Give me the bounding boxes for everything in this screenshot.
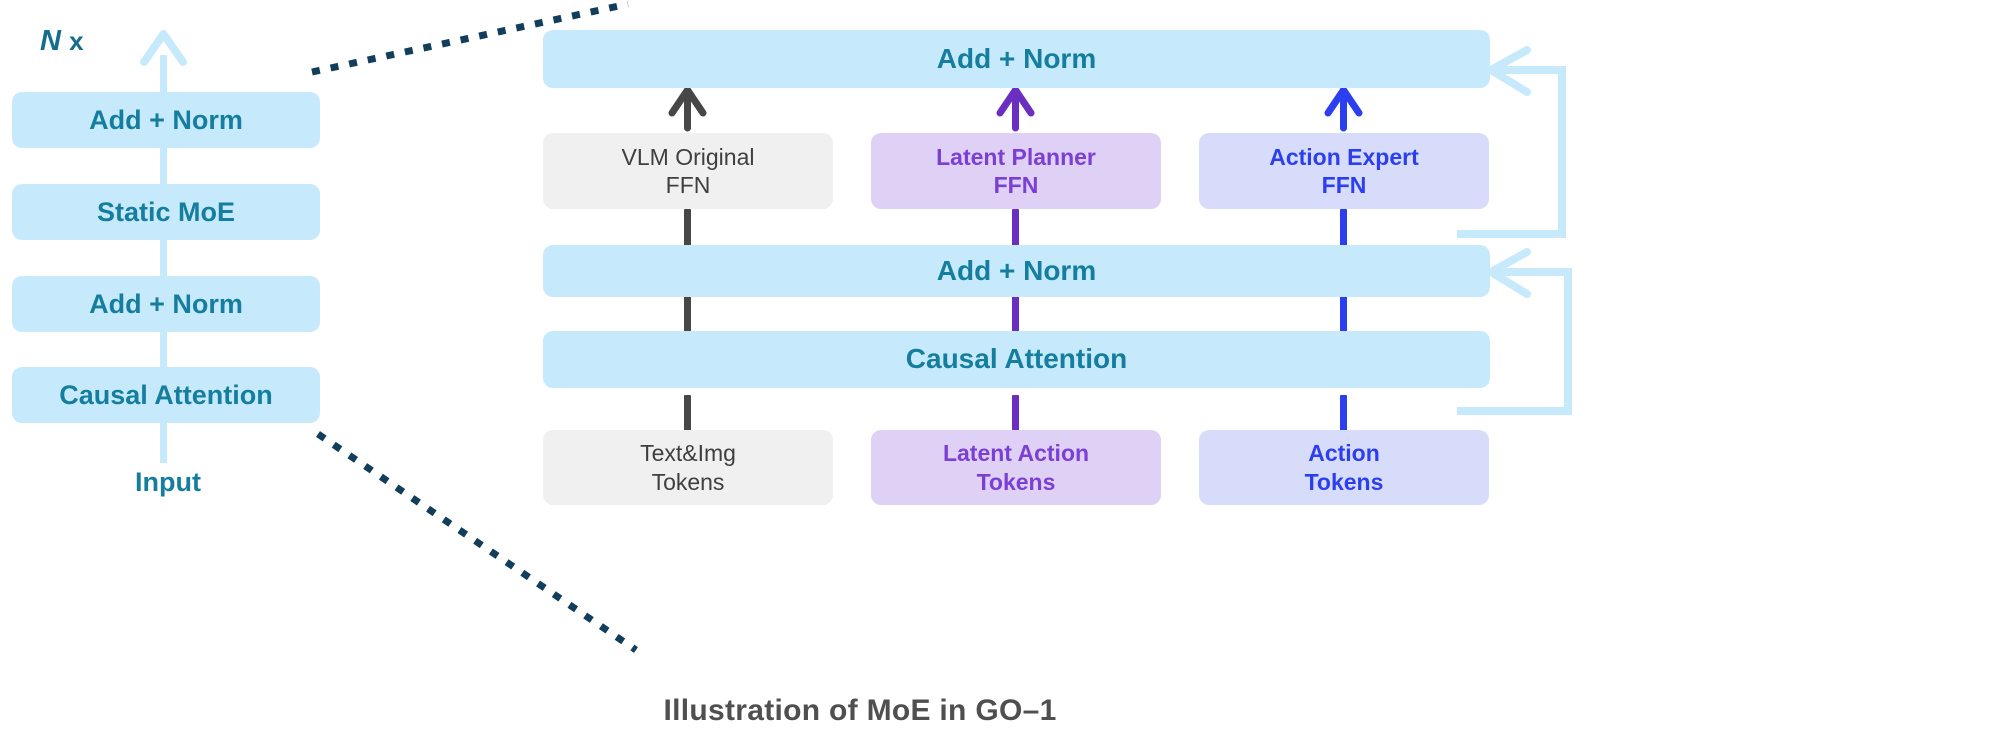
token-box-text-img[interactable]: Text&Img Tokens: [543, 430, 833, 505]
ffn-box-vlm-original-label: VLM Original FFN: [622, 143, 755, 199]
ffn-box-action-expert[interactable]: Action Expert FFN: [1199, 133, 1489, 209]
tok-vlm-line2: Tokens: [652, 469, 725, 495]
tok-latent-line2: Tokens: [977, 469, 1056, 495]
moe-detail-panel: Add + Norm VLM Original FFN Latent Plann…: [0, 0, 2014, 748]
token-box-text-img-label: Text&Img Tokens: [640, 439, 736, 495]
token-box-latent-action[interactable]: Latent Action Tokens: [871, 430, 1161, 505]
ffn-vlm-line2: FFN: [666, 172, 711, 198]
right-causal-attention[interactable]: Causal Attention: [543, 331, 1490, 388]
ffn-action-line2: FFN: [1322, 172, 1367, 198]
stem-latent-ffn-to-addnorm: [1012, 209, 1019, 247]
token-box-latent-action-label: Latent Action Tokens: [943, 439, 1089, 495]
stem-action-tokens-to-attention: [1340, 395, 1347, 433]
token-box-action[interactable]: Action Tokens: [1199, 430, 1489, 505]
tok-action-line1: Action: [1308, 440, 1380, 466]
ffn-box-latent-planner[interactable]: Latent Planner FFN: [871, 133, 1161, 209]
tok-vlm-line1: Text&Img: [640, 440, 736, 466]
ffn-box-latent-planner-label: Latent Planner FFN: [936, 143, 1096, 199]
diagram-canvas: N x Add + Norm Static MoE Add + Norm Cau…: [0, 0, 2014, 748]
stem-vlm-attention-to-addnorm: [684, 296, 691, 332]
stem-vlm-tokens-to-attention: [684, 395, 691, 433]
stem-latent-tokens-to-attention: [1012, 395, 1019, 433]
tok-latent-line1: Latent Action: [943, 440, 1089, 466]
token-box-action-label: Action Tokens: [1305, 439, 1384, 495]
ffn-vlm-line1: VLM Original: [622, 144, 755, 170]
right-add-norm-top[interactable]: Add + Norm: [543, 30, 1490, 88]
stem-vlm-ffn-to-addnorm: [684, 209, 691, 247]
stem-action-ffn-to-addnorm: [1340, 209, 1347, 247]
right-add-norm-mid[interactable]: Add + Norm: [543, 245, 1490, 297]
ffn-latent-line2: FFN: [994, 172, 1039, 198]
ffn-box-action-expert-label: Action Expert FFN: [1269, 143, 1419, 199]
stem-latent-attention-to-addnorm: [1012, 296, 1019, 332]
ffn-box-vlm-original[interactable]: VLM Original FFN: [543, 133, 833, 209]
ffn-latent-line1: Latent Planner: [936, 144, 1096, 170]
stem-action-attention-to-addnorm: [1340, 296, 1347, 332]
ffn-action-line1: Action Expert: [1269, 144, 1419, 170]
figure-caption: Illustration of MoE in GO–1: [0, 694, 1720, 728]
tok-action-line2: Tokens: [1305, 469, 1384, 495]
